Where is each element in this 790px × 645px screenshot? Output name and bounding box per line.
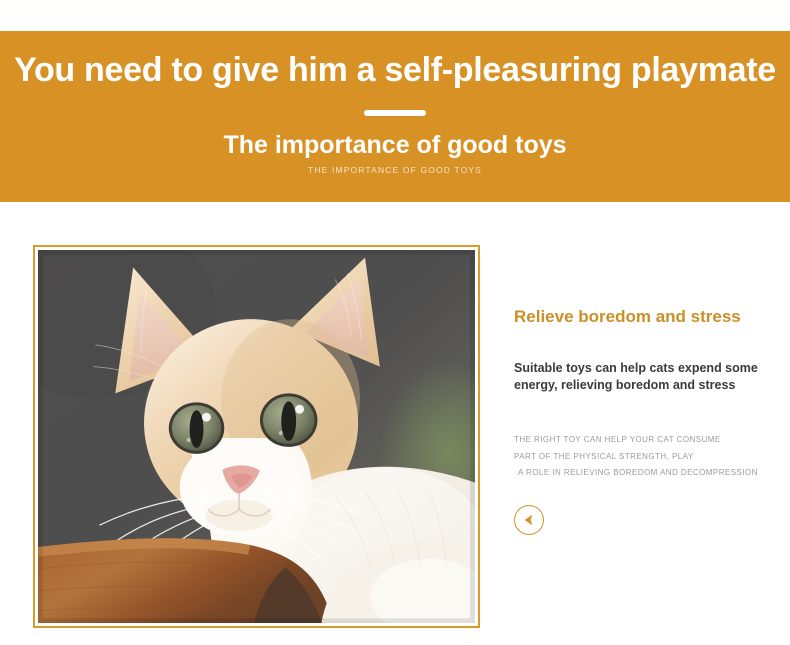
banner-divider bbox=[364, 110, 426, 116]
info-column: Relieve boredom and stress Suitable toys… bbox=[514, 245, 784, 535]
fine-print-line-1: THE RIGHT TOY CAN HELP YOUR CAT CONSUME bbox=[514, 432, 784, 448]
photo-frame bbox=[33, 245, 480, 628]
page-root: You need to give him a self-pleasuring p… bbox=[0, 0, 790, 645]
top-white-strip bbox=[0, 0, 790, 31]
content-area: Relieve boredom and stress Suitable toys… bbox=[0, 202, 790, 645]
section-fine-print: THE RIGHT TOY CAN HELP YOUR CAT CONSUME … bbox=[514, 432, 784, 481]
previous-arrow-button[interactable] bbox=[514, 505, 544, 535]
section-body: Suitable toys can help cats expend some … bbox=[514, 360, 782, 394]
hero-banner: You need to give him a self-pleasuring p… bbox=[0, 31, 790, 202]
banner-title: You need to give him a self-pleasuring p… bbox=[14, 53, 776, 89]
fine-print-line-3: A ROLE IN RELIEVING BOREDOM AND DECOMPRE… bbox=[514, 465, 784, 481]
kitten-illustration bbox=[38, 250, 475, 623]
arrow-left-icon bbox=[522, 513, 536, 527]
kitten-photo bbox=[38, 250, 475, 623]
banner-subtitle: The importance of good toys bbox=[223, 132, 566, 160]
section-heading: Relieve boredom and stress bbox=[514, 307, 784, 327]
fine-print-line-2: PART OF THE PHYSICAL STRENGTH, PLAY bbox=[514, 449, 784, 465]
banner-kicker: THE IMPORTANCE OF GOOD TOYS bbox=[308, 165, 482, 175]
